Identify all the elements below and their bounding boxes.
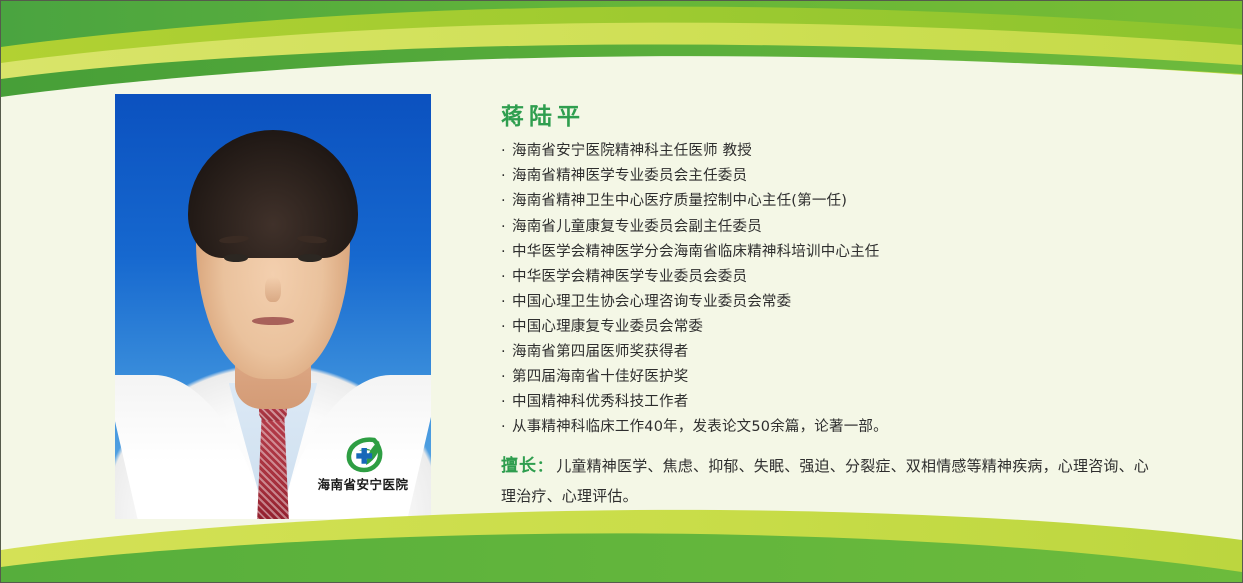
mouth bbox=[252, 317, 293, 325]
credential-text: 海南省精神卫生中心医疗质量控制中心主任(第一任) bbox=[512, 194, 1149, 209]
specialty-colon: ： bbox=[537, 457, 552, 475]
credential-text: 第四届海南省十佳好医护奖 bbox=[512, 370, 1149, 385]
bullet-marker: · bbox=[501, 144, 512, 159]
hair bbox=[188, 130, 359, 258]
specialty-section: 擅长：儿童精神医学、焦虑、抑郁、失眠、强迫、分裂症、双相情感等精神疾病，心理咨询… bbox=[501, 451, 1149, 510]
credential-text: 中华医学会精神医学分会海南省临床精神科培训中心主任 bbox=[512, 245, 1149, 260]
bullet-marker: · bbox=[501, 345, 512, 360]
bullet-marker: · bbox=[501, 220, 512, 235]
credential-item: ·从事精神科临床工作40年，发表论文50余篇，论著一部。 bbox=[501, 420, 1149, 445]
credential-text: 中国心理康复专业委员会常委 bbox=[512, 320, 1149, 335]
credential-item: ·中华医学会精神医学分会海南省临床精神科培训中心主任 bbox=[501, 245, 1149, 270]
bullet-marker: · bbox=[501, 194, 512, 209]
credential-item: ·海南省儿童康复专业委员会副主任委员 bbox=[501, 220, 1149, 245]
hospital-logo: 海南省安宁医院 bbox=[309, 437, 417, 493]
bullet-marker: · bbox=[501, 320, 512, 335]
eye-left bbox=[224, 254, 248, 262]
bullet-marker: · bbox=[501, 245, 512, 260]
credential-item: ·中国心理康复专业委员会常委 bbox=[501, 320, 1149, 345]
doctor-profile-card: 海南省安宁医院 蒋陆平 ·海南省安宁医院精神科主任医师 教授 ·海南省精神医学专… bbox=[0, 0, 1243, 583]
credential-text: 中国心理卫生协会心理咨询专业委员会常委 bbox=[512, 295, 1149, 310]
credential-text: 海南省安宁医院精神科主任医师 教授 bbox=[512, 144, 1149, 159]
bullet-marker: · bbox=[501, 270, 512, 285]
credential-text: 海南省儿童康复专业委员会副主任委员 bbox=[512, 220, 1149, 235]
doctor-photo: 海南省安宁医院 bbox=[115, 94, 431, 519]
eye-right bbox=[298, 254, 322, 262]
credential-item: ·第四届海南省十佳好医护奖 bbox=[501, 370, 1149, 395]
credential-item: ·中国精神科优秀科技工作者 bbox=[501, 395, 1149, 420]
bullet-marker: · bbox=[501, 420, 512, 435]
specialty-label: 擅长 bbox=[501, 456, 537, 476]
bullet-marker: · bbox=[501, 395, 512, 410]
specialty-text: 儿童精神医学、焦虑、抑郁、失眠、强迫、分裂症、双相情感等精神疾病，心理咨询、心理… bbox=[501, 457, 1149, 504]
credential-item: ·海南省安宁医院精神科主任医师 教授 bbox=[501, 144, 1149, 169]
doctor-info-panel: 蒋陆平 ·海南省安宁医院精神科主任医师 教授 ·海南省精神医学专业委员会主任委员… bbox=[501, 105, 1149, 511]
credential-item: ·海南省第四届医师奖获得者 bbox=[501, 345, 1149, 370]
leaf-cross-emblem-icon bbox=[341, 437, 385, 473]
credentials-list: ·海南省安宁医院精神科主任医师 教授 ·海南省精神医学专业委员会主任委员 ·海南… bbox=[501, 144, 1149, 445]
credential-text: 从事精神科临床工作40年，发表论文50余篇，论著一部。 bbox=[512, 420, 1149, 435]
credential-text: 中华医学会精神医学专业委员会委员 bbox=[512, 270, 1149, 285]
hospital-logo-text: 海南省安宁医院 bbox=[309, 474, 417, 493]
credential-item: ·中华医学会精神医学专业委员会委员 bbox=[501, 270, 1149, 295]
credential-text: 海南省第四届医师奖获得者 bbox=[512, 345, 1149, 360]
credential-text: 中国精神科优秀科技工作者 bbox=[512, 395, 1149, 410]
bullet-marker: · bbox=[501, 169, 512, 184]
necktie bbox=[257, 417, 289, 519]
bullet-marker: · bbox=[501, 370, 512, 385]
credential-item: ·海南省精神医学专业委员会主任委员 bbox=[501, 169, 1149, 194]
credential-text: 海南省精神医学专业委员会主任委员 bbox=[512, 169, 1149, 184]
bullet-marker: · bbox=[501, 295, 512, 310]
credential-item: ·中国心理卫生协会心理咨询专业委员会常委 bbox=[501, 295, 1149, 320]
credential-item: ·海南省精神卫生中心医疗质量控制中心主任(第一任) bbox=[501, 194, 1149, 219]
nose bbox=[265, 277, 281, 303]
doctor-name: 蒋陆平 bbox=[501, 105, 1149, 130]
